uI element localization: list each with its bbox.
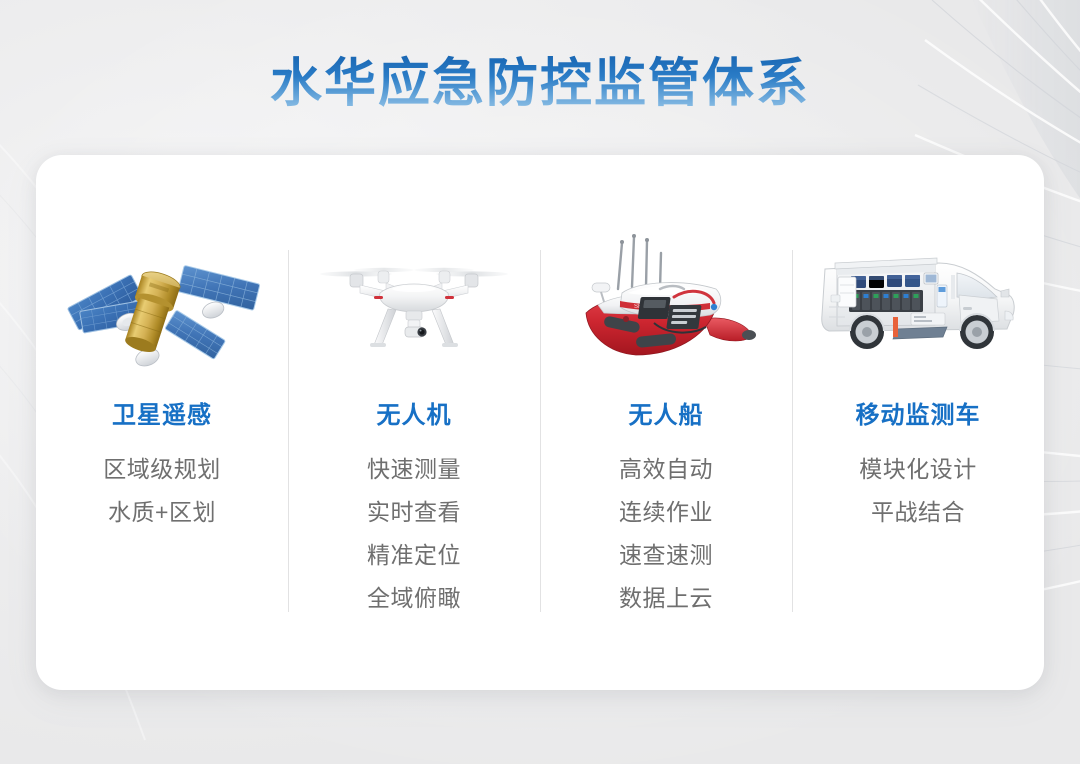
column-unmanned-surface-vessel[interactable]: SHUIHUA — [540, 155, 792, 690]
unmanned-boat-icon: SHUIHUA — [564, 231, 769, 371]
column-title: 移动监测车 — [856, 401, 981, 431]
column-item-list: 快速测量 实时查看 精准定位 全域俯瞰 — [367, 448, 461, 620]
column-title: 无人船 — [629, 401, 704, 431]
list-item: 平战结合 — [871, 491, 965, 534]
column-item-list: 高效自动 连续作业 速查速测 数据上云 — [619, 448, 713, 620]
feature-columns: 卫星遥感 区域级规划 水质+区划 — [36, 155, 1044, 690]
list-item: 高效自动 — [619, 448, 713, 491]
column-unmanned-aerial-vehicle[interactable]: 无人机 快速测量 实时查看 精准定位 全域俯瞰 — [288, 155, 540, 690]
list-item: 区域级规划 — [103, 448, 221, 491]
column-mobile-monitoring-vehicle[interactable]: 移动监测车 模块化设计 平战结合 — [792, 155, 1044, 690]
unmanned-boat-illustration: SHUIHUA — [559, 233, 774, 368]
column-title: 卫星遥感 — [112, 401, 212, 431]
list-item: 模块化设计 — [859, 448, 977, 491]
page-title: 水华应急防控监管体系 — [0, 52, 1080, 116]
monitoring-van-illustration — [811, 233, 1026, 368]
list-item: 连续作业 — [619, 491, 713, 534]
list-item: 数据上云 — [619, 577, 713, 620]
drone-icon — [314, 241, 514, 361]
satellite-illustration — [55, 233, 270, 368]
column-item-list: 区域级规划 水质+区划 — [103, 448, 221, 534]
drone-illustration — [307, 233, 522, 368]
list-item: 精准定位 — [367, 534, 461, 577]
list-item: 实时查看 — [367, 491, 461, 534]
column-satellite-remote-sensing[interactable]: 卫星遥感 区域级规划 水质+区划 — [36, 155, 288, 690]
column-item-list: 模块化设计 平战结合 — [859, 448, 977, 534]
monitoring-van-icon — [811, 233, 1026, 368]
list-item: 全域俯瞰 — [367, 577, 461, 620]
list-item: 快速测量 — [367, 448, 461, 491]
list-item: 水质+区划 — [108, 491, 216, 534]
satellite-icon — [67, 235, 257, 367]
column-title: 无人机 — [377, 401, 452, 431]
list-item: 速查速测 — [619, 534, 713, 577]
feature-card: 卫星遥感 区域级规划 水质+区划 — [36, 155, 1044, 690]
